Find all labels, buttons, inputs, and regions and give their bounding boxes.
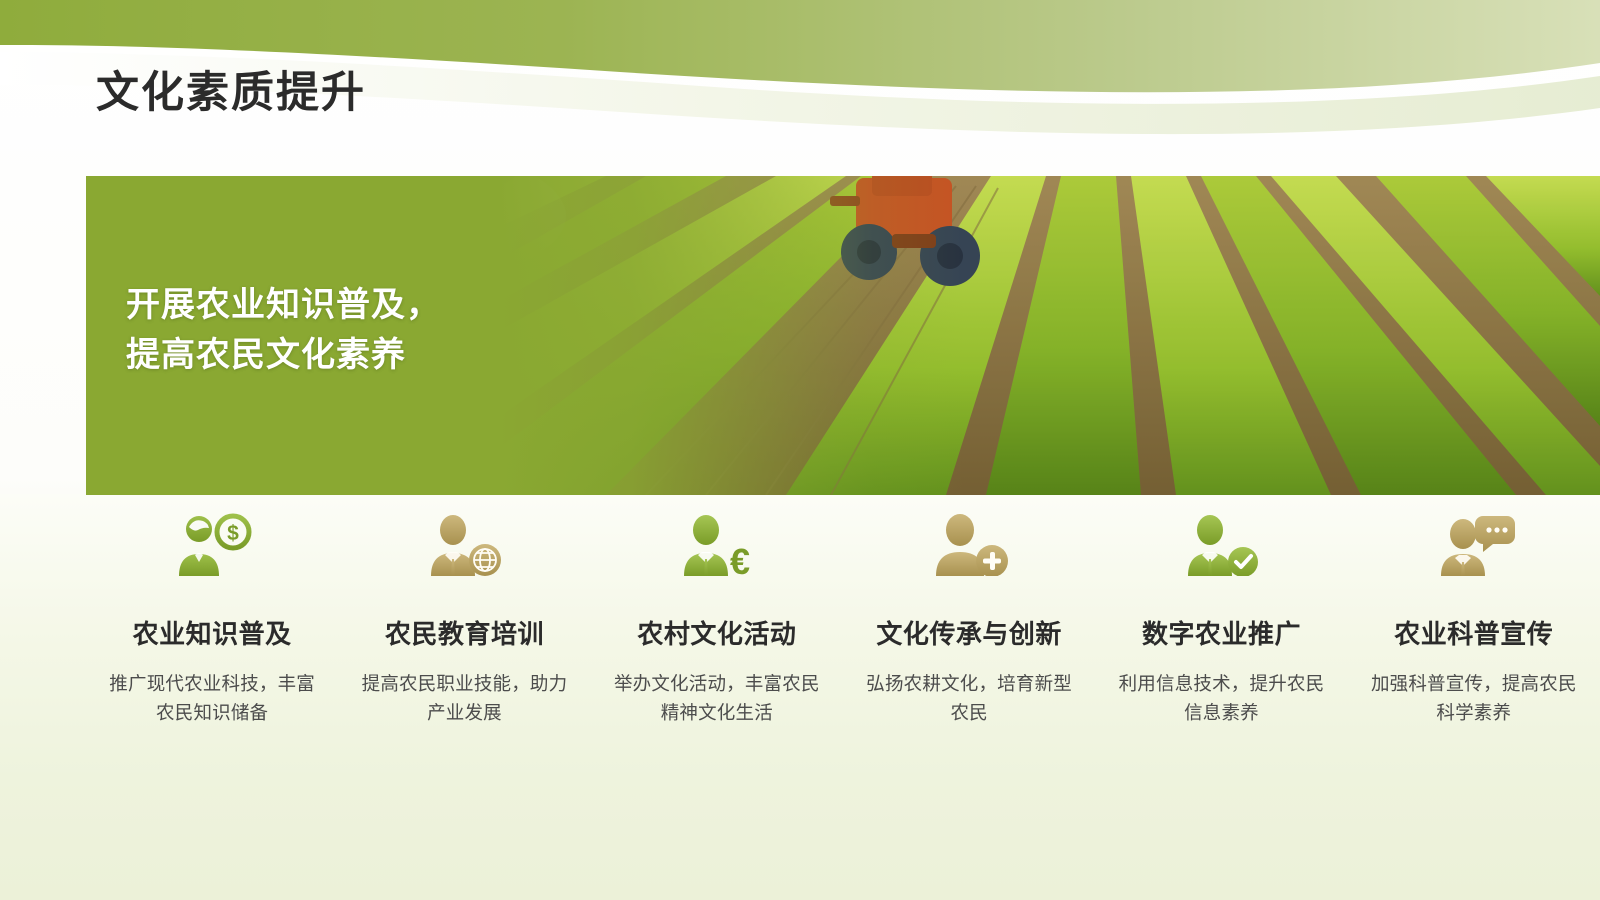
- feature-item-agriculture-knowledge[interactable]: $ 农业知识普及 推广现代农业科技，丰富农民知识储备: [86, 512, 338, 772]
- svg-text:€: €: [730, 541, 750, 576]
- feature-item-digital-agriculture[interactable]: 数字农业推广 利用信息技术，提升农民信息素养: [1095, 512, 1347, 772]
- feature-description: 提高农民职业技能，助力产业发展: [359, 670, 569, 727]
- feature-description: 举办文化活动，丰富农民精神文化生活: [612, 670, 822, 727]
- person-dollar-icon: $: [169, 512, 255, 576]
- slide-root: 文化素质提升: [0, 0, 1600, 900]
- feature-title: 农业科普宣传: [1394, 614, 1553, 651]
- person-chat-icon: [1431, 512, 1517, 576]
- feature-list: $ 农业知识普及 推广现代农业科技，丰富农民知识储备: [86, 512, 1600, 772]
- person-check-icon-svg: [1180, 512, 1262, 576]
- person-add-icon-svg: [928, 512, 1010, 576]
- person-euro-icon-svg: €: [676, 512, 758, 576]
- feature-description: 弘扬农耕文化，培育新型农民: [864, 670, 1074, 727]
- person-euro-icon: €: [674, 512, 760, 576]
- person-dollar-icon-svg: $: [171, 512, 253, 576]
- feature-title: 农村文化活动: [637, 614, 796, 651]
- hero-banner: 开展农业知识普及， 提高农民文化素养: [86, 176, 1600, 495]
- page-title: 文化素质提升: [96, 68, 366, 120]
- feature-description: 推广现代农业科技，丰富农民知识储备: [107, 670, 317, 727]
- feature-item-rural-culture-activity[interactable]: € 农村文化活动 举办文化活动，丰富农民精神文化生活: [591, 512, 843, 772]
- hero-headline-line1: 开展农业知识普及，: [126, 286, 441, 324]
- feature-description: 利用信息技术，提升农民信息素养: [1116, 670, 1326, 727]
- svg-text:$: $: [227, 522, 239, 545]
- feature-description: 加强科普宣传，提高农民科学素养: [1369, 670, 1579, 727]
- feature-item-farmer-training[interactable]: 农民教育培训 提高农民职业技能，助力产业发展: [338, 512, 590, 772]
- feature-title: 文化传承与创新: [876, 614, 1062, 651]
- person-globe-icon: [421, 512, 507, 576]
- feature-item-culture-heritage-innovation[interactable]: 文化传承与创新 弘扬农耕文化，培育新型农民: [843, 512, 1095, 772]
- hero-headline-line2: 提高农民文化素养: [126, 331, 441, 381]
- person-add-icon: [926, 512, 1012, 576]
- feature-title: 农民教育培训: [385, 614, 544, 651]
- person-check-icon: [1178, 512, 1264, 576]
- person-chat-icon-svg: [1433, 512, 1515, 576]
- feature-title: 数字农业推广: [1142, 614, 1301, 651]
- feature-item-agri-science-promotion[interactable]: 农业科普宣传 加强科普宣传，提高农民科学素养: [1348, 512, 1600, 772]
- feature-title: 农业知识普及: [133, 614, 292, 651]
- person-globe-icon-svg: [423, 512, 505, 576]
- hero-headline: 开展农业知识普及， 提高农民文化素养: [126, 281, 441, 381]
